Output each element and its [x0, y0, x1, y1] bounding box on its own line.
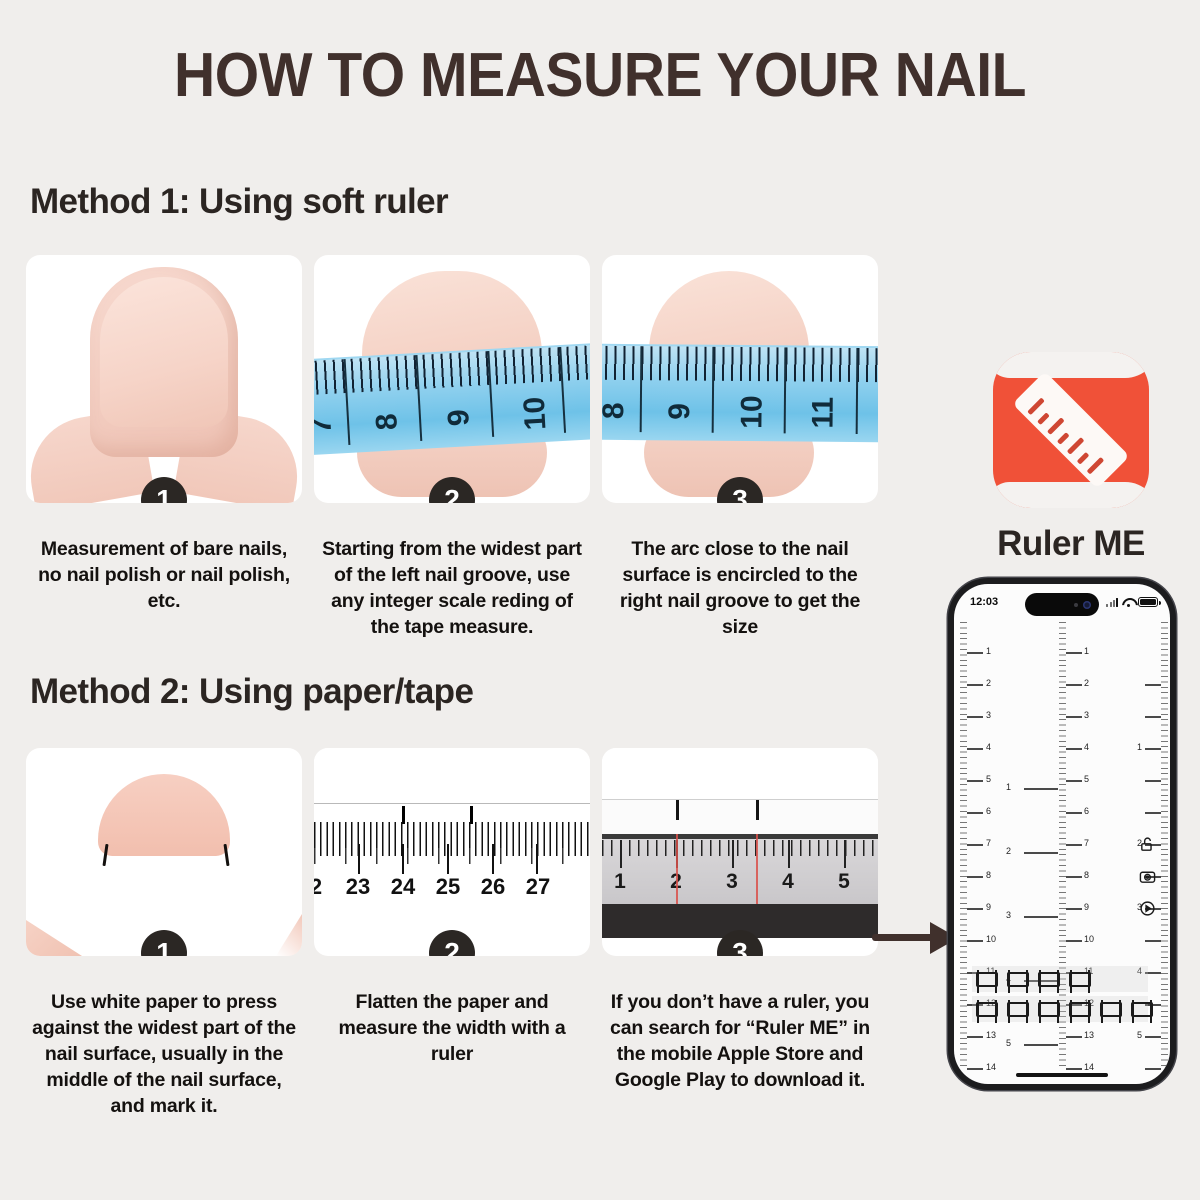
pen-mark-right [756, 800, 759, 820]
ruler-label: 14 [986, 1062, 996, 1072]
nail-pressed-on-white-paper-photo [26, 748, 302, 956]
paper-strip [602, 748, 878, 800]
ruler-label: 1 [1084, 646, 1089, 656]
measure-clip-icon [1069, 972, 1091, 987]
ruler-number: 4 [782, 870, 794, 894]
step-card-m1-1: 1 [26, 255, 302, 503]
icon-wave-bottom [993, 482, 1149, 508]
tape-number: 7 [314, 416, 339, 435]
ruler-label: 6 [1084, 806, 1089, 816]
ruler-app-icon[interactable] [993, 352, 1149, 508]
ruler-label: 13 [1084, 1030, 1094, 1040]
finger-with-blue-tape-measure-photo: 7 8 9 10 [314, 255, 590, 503]
paper-ruler-photo: 2 23 24 25 26 27 [314, 748, 590, 956]
ruler-label: 5 [986, 774, 991, 784]
dynamic-island [1025, 593, 1099, 616]
ruler-label: 7 [1084, 838, 1089, 848]
ruler-label: 7 [986, 838, 991, 848]
tape-number: 8 [370, 412, 405, 431]
measure-clip-icon [1007, 972, 1029, 987]
home-indicator[interactable] [1016, 1073, 1108, 1077]
ruler-label: 10 [986, 934, 996, 944]
front-camera-icon [1083, 601, 1091, 609]
ruler-label: 13 [986, 1030, 996, 1040]
status-time: 12:03 [970, 596, 998, 608]
ruler-label: 14 [1084, 1062, 1094, 1072]
ruler-glyph-icon [1012, 371, 1129, 488]
arrow-shaft [872, 934, 934, 941]
cellular-signal-icon [1106, 598, 1118, 607]
ruler-number: 25 [436, 874, 460, 900]
measure-clip-icon [976, 972, 998, 987]
ruler-label: 2 [986, 678, 991, 688]
ruler-label: 9 [1084, 902, 1089, 912]
ruler-label: 10 [1084, 934, 1094, 944]
step-caption: Measurement of bare nails, no nail polis… [26, 537, 302, 641]
ruler-number: 24 [391, 874, 415, 900]
page-title: HOW TO MEASURE YOUR NAIL [48, 40, 1152, 111]
unlock-icon[interactable] [1139, 836, 1156, 853]
measure-clip-icon [1038, 972, 1060, 987]
metal-ruler-measuring-paper-photo: 1 2 3 4 5 [602, 748, 878, 956]
measure-clip-icon [1007, 1002, 1029, 1017]
step-caption: Starting from the widest part of the lef… [314, 537, 590, 641]
ruler-label: 2 [1084, 678, 1089, 688]
method-1-cards: 1 7 8 [26, 255, 876, 503]
ruler-label: 6 [986, 806, 991, 816]
tape-number: 10 [735, 395, 769, 429]
minor-ticks [1161, 622, 1168, 1066]
measurement-row-top [972, 966, 1148, 992]
measure-clip-icon [1100, 1002, 1122, 1017]
ruler-number: 26 [481, 874, 505, 900]
bare-fingernail-photo [26, 255, 302, 503]
paper-strip [314, 748, 590, 804]
ruler-number: 23 [346, 874, 370, 900]
paper-band [602, 800, 878, 834]
skin-corner-right [276, 914, 302, 956]
ruler-label: 1 [1006, 782, 1011, 792]
ruler-label: 8 [986, 870, 991, 880]
step-caption: Use white paper to press against the wid… [26, 990, 302, 1120]
infographic-page: HOW TO MEASURE YOUR NAIL Method 1: Using… [0, 0, 1200, 1200]
ruler-label: 4 [986, 742, 991, 752]
measure-clip-icon [976, 1002, 998, 1017]
ruler-label: 2 [1006, 846, 1011, 856]
tape-wrapped-around-nail-photo: 8 9 10 11 [602, 255, 878, 503]
ruler-label: 4 [1084, 742, 1089, 752]
blue-tape-measure: 7 8 9 10 [314, 343, 590, 455]
method-1-row: 1 7 8 [26, 255, 876, 641]
method-1-captions: Measurement of bare nails, no nail polis… [26, 537, 876, 641]
skin-corner-left [26, 920, 82, 956]
step-card-m2-3: 1 2 3 4 5 3 [602, 748, 878, 956]
ruler-label: 3 [1084, 710, 1089, 720]
method-2-captions: Use white paper to press against the wid… [26, 990, 876, 1120]
ruler-label: 1 [1137, 742, 1142, 752]
ruler-label: 5 [1084, 774, 1089, 784]
sensor-dot-icon [1074, 603, 1078, 607]
step-card-m1-3: 8 9 10 11 3 [602, 255, 878, 503]
ruler-label: 3 [986, 710, 991, 720]
measurement-row-bottom [972, 996, 1148, 1022]
ruler-label: 5 [1006, 1038, 1011, 1048]
method-2-heading: Method 2: Using paper/tape [30, 672, 473, 712]
ruler-mid-ticks [314, 848, 590, 864]
play-icon[interactable] [1139, 900, 1156, 917]
step-caption: If you don’t have a ruler, you can searc… [602, 990, 878, 1120]
wifi-icon [1122, 598, 1134, 607]
pen-mark-left [676, 800, 679, 820]
finger-nail [90, 267, 238, 457]
method-1-heading: Method 1: Using soft ruler [30, 182, 448, 222]
ruler-label: 5 [1137, 1030, 1142, 1040]
step-caption: Flatten the paper and measure the width … [314, 990, 590, 1120]
camera-icon[interactable] [1139, 868, 1156, 885]
ruler-label: 1 [986, 646, 991, 656]
ruler-number: 27 [526, 874, 550, 900]
tape-number: 9 [442, 408, 477, 427]
ruler-number: 5 [838, 870, 850, 894]
step-card-m2-1: 1 [26, 748, 302, 956]
step-caption: The arc close to the nail surface is enc… [602, 537, 878, 641]
ruler-number: 3 [726, 870, 738, 894]
ruler-number: 2 [314, 874, 322, 900]
icon-wave-top [993, 352, 1149, 378]
phone-screen: 12:03 1 2 3 4 5 6 7 8 9 10 11 12 [954, 584, 1170, 1084]
tape-number: 11 [807, 397, 841, 429]
tape-number: 9 [663, 403, 697, 420]
right-arrow-icon [872, 920, 958, 954]
ruler-label: 3 [1006, 910, 1011, 920]
status-icons [1106, 597, 1158, 607]
app-name-label: Ruler ME [930, 524, 1200, 564]
phone-mockup: 12:03 1 2 3 4 5 6 7 8 9 10 11 12 [948, 578, 1176, 1090]
measure-clip-icon [1069, 1002, 1091, 1017]
ruler-minor-ticks [602, 840, 878, 856]
method-2-cards: 1 2 23 24 25 [26, 748, 876, 956]
ruler-label: 8 [1084, 870, 1089, 880]
app-side-icons [1139, 836, 1156, 917]
blue-tape-measure: 8 9 10 11 [602, 344, 878, 443]
method-2-row: 1 2 23 24 25 [26, 748, 876, 1120]
nail-arc [98, 774, 230, 856]
ruler-number: 1 [614, 870, 626, 894]
tape-number: 8 [602, 402, 631, 419]
minor-ticks [960, 622, 967, 1066]
battery-icon [1138, 597, 1158, 607]
step-card-m2-2: 2 23 24 25 26 27 2 [314, 748, 590, 956]
measure-clip-icon [1131, 1002, 1153, 1017]
tape-number: 10 [518, 396, 554, 431]
ruler-label: 9 [986, 902, 991, 912]
measure-clip-icon [1038, 1002, 1060, 1017]
step-card-m1-2: 7 8 9 10 2 [314, 255, 590, 503]
